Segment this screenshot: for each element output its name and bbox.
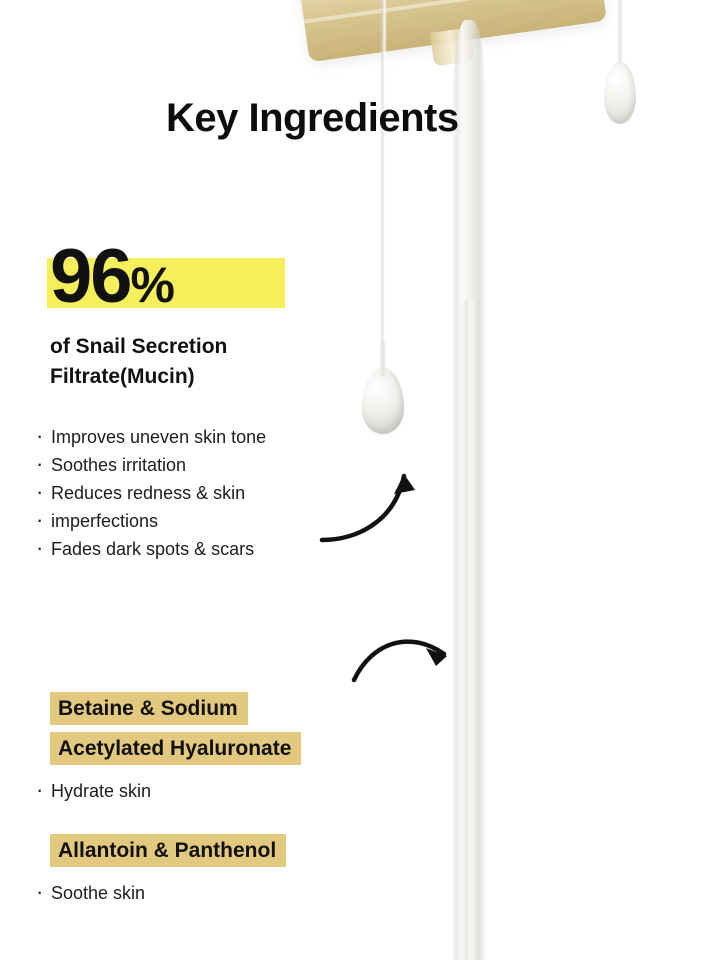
group-betaine-title-line1: Betaine & Sodium xyxy=(50,692,248,725)
mucin-benefit-list: Improves uneven skin tone Soothes irrita… xyxy=(32,424,362,564)
serum-droplet-small-icon xyxy=(604,62,636,124)
serum-stream-highlight xyxy=(462,300,476,960)
serum-bottle: Advanced Snail Mucin Power Essence xyxy=(293,0,607,62)
list-item: Reduces redness & skin xyxy=(32,480,362,507)
serum-stream-icon xyxy=(452,20,486,960)
hero-subtitle: of Snail Secretion Filtrate(Mucin) xyxy=(50,332,380,392)
percent-value-row: 96% xyxy=(50,238,174,324)
bottle-strip xyxy=(304,0,602,23)
hero-subtitle-line2: Filtrate(Mucin) xyxy=(50,362,380,392)
serum-drip-left xyxy=(380,0,387,390)
percent-callout: 96% xyxy=(50,238,174,316)
percent-value: 96 xyxy=(50,234,131,319)
list-item: Improves uneven skin tone xyxy=(32,424,362,451)
list-item: Fades dark spots & scars xyxy=(32,536,362,563)
group-betaine-title: Betaine & Sodium Acetylated Hyaluronate xyxy=(50,692,301,772)
curved-arrow-up-right-icon xyxy=(316,462,436,552)
list-item: Hydrate skin xyxy=(32,778,372,805)
group-allantoin-list: Soothe skin xyxy=(32,880,372,907)
ingredients-infographic: Advanced Snail Mucin Power Essence Key I… xyxy=(0,0,720,960)
bottle-neck xyxy=(430,27,474,66)
bottle-label: Advanced Snail Mucin Power Essence xyxy=(436,0,600,38)
hero-subtitle-line1: of Snail Secretion xyxy=(50,332,380,362)
group-betaine-title-line2: Acetylated Hyaluronate xyxy=(50,732,301,765)
group-allantoin-title-line1: Allantoin & Panthenol xyxy=(50,834,286,867)
curved-arrow-right-icon xyxy=(348,628,463,693)
list-item: Soothes irritation xyxy=(32,452,362,479)
serum-drip-right xyxy=(617,0,623,70)
group-betaine-list: Hydrate skin xyxy=(32,778,372,805)
list-item-continuation: imperfections xyxy=(32,508,362,535)
page-title: Key Ingredients xyxy=(166,96,459,141)
group-allantoin-title: Allantoin & Panthenol xyxy=(50,834,286,874)
list-item: Soothe skin xyxy=(32,880,372,907)
percent-symbol: % xyxy=(131,257,174,313)
